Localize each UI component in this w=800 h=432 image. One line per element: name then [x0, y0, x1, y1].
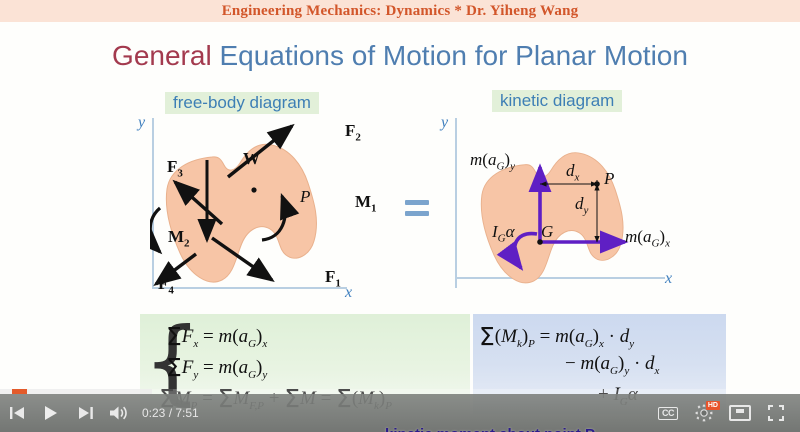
kinetic-diagram-label: kinetic diagram — [492, 90, 622, 112]
weight-label: W — [243, 149, 260, 169]
previous-button[interactable] — [0, 394, 34, 432]
moment-sub-2: 2 — [184, 237, 190, 249]
force-label-F1: F1 — [325, 267, 341, 289]
kd-y-axis-label: y — [441, 114, 448, 132]
force-label-F3: F3 — [167, 157, 183, 179]
kd-dim-y-label: dy — [575, 194, 588, 216]
kd-dim-x-label: dx — [566, 161, 579, 183]
force-sub-4: 4 — [168, 284, 174, 296]
cc-icon: CC — [658, 407, 678, 420]
video-player-screen: Engineering Mechanics: Dynamics * Dr. Yi… — [0, 0, 800, 432]
fullscreen-button[interactable] — [758, 394, 794, 432]
play-button[interactable] — [34, 394, 68, 432]
kd-vector-x-label: m(aG)x — [625, 227, 670, 249]
captions-button[interactable]: CC — [650, 394, 686, 432]
fullscreen-icon — [768, 405, 784, 421]
fbd-point-P-label: P — [300, 187, 310, 207]
caption-text: kinetic moment about point P — [385, 426, 595, 432]
kd-center-of-mass-label: G — [541, 222, 553, 242]
fbd-y-axis-label: y — [138, 114, 145, 132]
volume-button[interactable] — [102, 394, 136, 432]
equation-sum-Fy: ΣFy = m(aG)y — [166, 353, 267, 382]
force-label-F2: F2 — [345, 121, 361, 143]
theater-icon — [729, 405, 751, 421]
equation-kinetic-moment-2: − m(aG)y · dx — [565, 353, 659, 377]
kd-couple-label: IGα — [492, 222, 515, 244]
time-display: 0:23 / 7:51 — [142, 406, 199, 420]
equation-sum-Fx: ΣFx = m(aG)x — [166, 322, 267, 351]
page-title-general: General — [112, 40, 212, 71]
equals-bar-top — [405, 200, 429, 205]
force-sub-3: 3 — [177, 167, 183, 179]
page-title-rest: Equations of Motion for Planar Motion — [212, 40, 688, 71]
force-label-F4: F4 — [158, 274, 174, 296]
theater-mode-button[interactable] — [722, 394, 758, 432]
player-buttons-right: CC HD — [650, 394, 794, 432]
play-icon — [43, 405, 59, 421]
page-title: General Equations of Motion for Planar M… — [0, 40, 800, 72]
kd-y-axis — [455, 118, 457, 288]
next-icon — [78, 406, 93, 420]
equals-sign — [405, 200, 429, 216]
hd-badge: HD — [706, 401, 720, 410]
moment-sub-1: 1 — [371, 202, 377, 214]
volume-icon — [109, 405, 129, 421]
slide-title-band: Engineering Mechanics: Dynamics * Dr. Yi… — [0, 0, 800, 22]
moment-label-M1: M1 — [355, 192, 377, 214]
force-sub-1: 1 — [335, 277, 341, 289]
equals-bar-bottom — [405, 211, 429, 216]
settings-button[interactable]: HD — [686, 394, 722, 432]
slide-title-text: Engineering Mechanics: Dynamics * Dr. Yi… — [222, 3, 579, 20]
free-body-diagram-label: free-body diagram — [165, 92, 319, 114]
equation-kinetic-moment-1: Σ(Mk)P = m(aG)x · dy — [479, 322, 634, 351]
moment-label-M2: M2 — [168, 227, 190, 249]
force-sub-2: 2 — [355, 131, 361, 143]
kd-vector-y-label: m(aG)y — [470, 150, 515, 172]
caption-label: kinetic moment about point P — [385, 426, 595, 432]
slide-content: General Equations of Motion for Planar M… — [0, 22, 800, 410]
next-button[interactable] — [68, 394, 102, 432]
kd-point-P-label: P — [604, 169, 614, 189]
previous-icon — [10, 406, 25, 420]
